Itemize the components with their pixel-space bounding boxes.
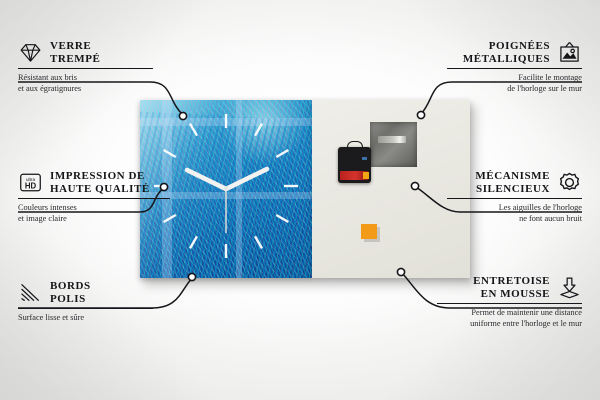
- callout-divider: [437, 303, 582, 304]
- callout-subtitle: Permet de maintenir une distance uniform…: [437, 308, 582, 328]
- callout-header: BORDS POLIS: [18, 280, 153, 305]
- callout-subtitle: Résistant aux bris et aux égratignures: [18, 73, 153, 93]
- callout-title: ENTRETOISE EN MOUSSE: [473, 275, 550, 300]
- foam-spacer-arrow-icon: [557, 275, 582, 300]
- ultra-hd-icon: ultra HD: [18, 170, 43, 195]
- callout-title: VERRE TREMPÉ: [50, 40, 100, 65]
- infographic-stage: VERRE TREMPÉ Résistant aux bris et aux é…: [0, 0, 600, 400]
- callout-header: ultra HD IMPRESSION DE HAUTE QUALITÉ: [18, 170, 170, 195]
- hanger-hook: [347, 141, 363, 150]
- callout-header: POIGNÉES MÉTALLIQUES: [447, 40, 582, 65]
- mechanism-label: [362, 157, 367, 160]
- battery-terminal: [363, 172, 369, 179]
- callout-header: MÉCANISME SILENCIEUX: [447, 170, 582, 195]
- callout-header: ENTRETOISE EN MOUSSE: [437, 275, 582, 300]
- clock-mechanism: [338, 147, 371, 183]
- callout-entretoise[interactable]: ENTRETOISE EN MOUSSE Permet de maintenir…: [437, 275, 582, 329]
- callout-poignees[interactable]: POIGNÉES MÉTALLIQUES Facilite le montage…: [447, 40, 582, 94]
- callout-title: MÉCANISME SILENCIEUX: [475, 170, 550, 195]
- foam-spacer: [361, 224, 377, 239]
- callout-divider: [447, 68, 582, 69]
- metal-mounting-plate: [370, 122, 417, 167]
- callout-mecanisme[interactable]: MÉCANISME SILENCIEUX Les aiguilles de l'…: [447, 170, 582, 224]
- callout-subtitle: Facilite le montage de l'horloge sur le …: [447, 73, 582, 93]
- callout-divider: [18, 68, 153, 69]
- callout-header: VERRE TREMPÉ: [18, 40, 153, 65]
- diamond-icon: [18, 40, 43, 65]
- callout-title: POIGNÉES MÉTALLIQUES: [463, 40, 550, 65]
- callout-divider: [18, 198, 170, 199]
- polished-edges-icon: [18, 280, 43, 305]
- callout-bords-polis[interactable]: BORDS POLIS Surface lisse et sûre: [18, 280, 153, 324]
- callout-title: BORDS POLIS: [50, 280, 91, 305]
- callout-divider: [18, 308, 153, 309]
- callout-subtitle: Couleurs intenses et image claire: [18, 203, 170, 223]
- callout-verre-trempe[interactable]: VERRE TREMPÉ Résistant aux bris et aux é…: [18, 40, 153, 94]
- callout-divider: [447, 198, 582, 199]
- svg-text:HD: HD: [25, 181, 37, 190]
- mounting-slot: [378, 136, 406, 143]
- wall-mount-picture-icon: [557, 40, 582, 65]
- gear-icon: [557, 170, 582, 195]
- callout-title: IMPRESSION DE HAUTE QUALITÉ: [50, 170, 150, 195]
- product-image: [140, 100, 470, 280]
- callout-subtitle: Surface lisse et sûre: [18, 313, 153, 323]
- callout-subtitle: Les aiguilles de l'horloge ne font aucun…: [447, 203, 582, 223]
- callout-impression[interactable]: ultra HD IMPRESSION DE HAUTE QUALITÉ Cou…: [18, 170, 170, 224]
